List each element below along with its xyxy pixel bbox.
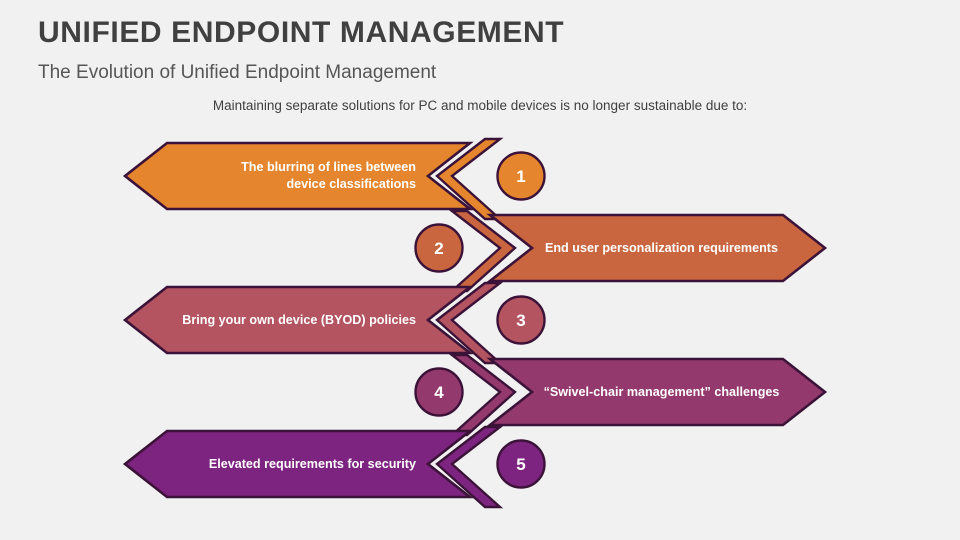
connector-segment-1 — [437, 139, 500, 219]
step-label-2: End user personalization requirements — [540, 240, 783, 257]
lead-statement: Maintaining separate solutions for PC an… — [0, 98, 960, 113]
step-label-1: The blurring of lines betweendevice clas… — [177, 159, 416, 192]
step-label-line: The blurring of lines between — [177, 159, 416, 176]
step-label-line: Bring your own device (BYOD) policies — [177, 312, 416, 329]
step-label-line: “Swivel-chair management” challenges — [540, 384, 783, 401]
connector-segment-5 — [437, 427, 500, 507]
slide-canvas: UNIFIED ENDPOINT MANAGEMENT The Evolutio… — [0, 0, 960, 540]
step-label-line: device classifications — [177, 176, 416, 193]
step-label-3: Bring your own device (BYOD) policies — [177, 312, 416, 329]
step-label-5: Elevated requirements for security — [177, 456, 416, 473]
step-number-label-5: 5 — [498, 456, 545, 473]
step-label-line: Elevated requirements for security — [177, 456, 416, 473]
step-label-4: “Swivel-chair management” challenges — [540, 384, 783, 401]
page-subtitle: The Evolution of Unified Endpoint Manage… — [38, 62, 928, 84]
step-number-label-1: 1 — [498, 168, 545, 185]
slide-header: UNIFIED ENDPOINT MANAGEMENT The Evolutio… — [38, 16, 928, 83]
step-number-label-4: 4 — [416, 384, 463, 401]
connector-segment-3 — [437, 283, 500, 363]
step-label-line: End user personalization requirements — [540, 240, 783, 257]
step-number-label-2: 2 — [416, 240, 463, 257]
page-title: UNIFIED ENDPOINT MANAGEMENT — [38, 16, 928, 51]
step-number-label-3: 3 — [498, 312, 545, 329]
